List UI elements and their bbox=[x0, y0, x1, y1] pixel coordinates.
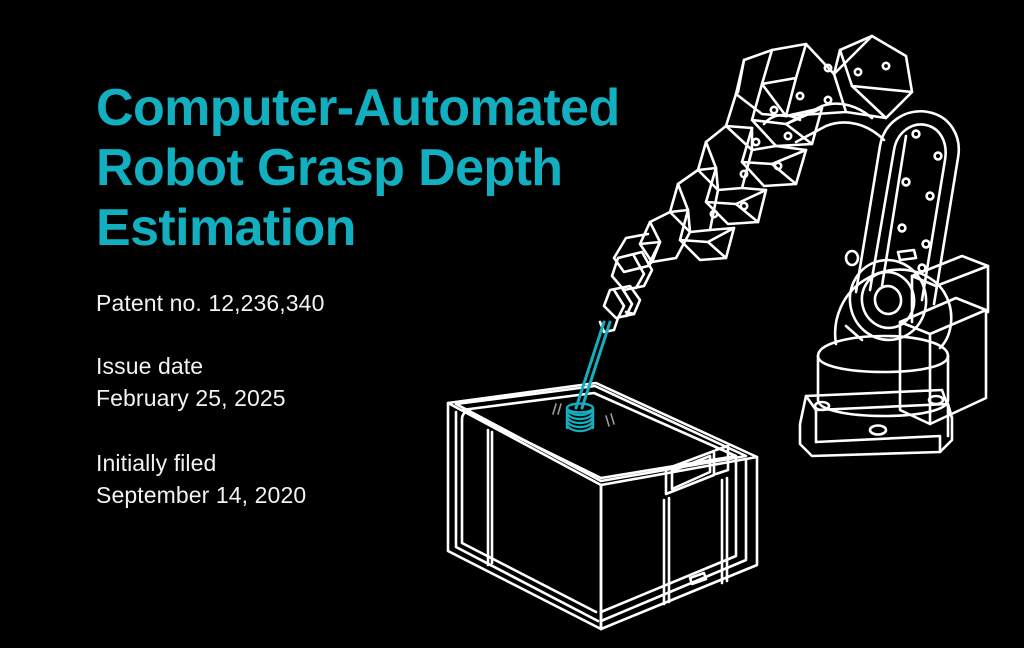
page-title: Computer-Automated Robot Grasp Depth Est… bbox=[96, 78, 696, 258]
filed-value: September 14, 2020 bbox=[96, 479, 696, 511]
robot-shoulder-joint bbox=[835, 251, 951, 348]
issue-date-group: Issue date February 25, 2025 bbox=[96, 350, 696, 414]
robot-controller-box bbox=[900, 256, 988, 424]
issue-date-value: February 25, 2025 bbox=[96, 382, 696, 414]
title-line-2: Robot Grasp Depth bbox=[96, 138, 696, 198]
patent-number: Patent no. 12,236,340 bbox=[96, 287, 696, 319]
patent-number-group: Patent no. 12,236,340 bbox=[96, 287, 696, 319]
robot-upper-arm bbox=[856, 111, 959, 304]
robot-elbow-joint bbox=[764, 104, 884, 142]
issue-date-label: Issue date bbox=[96, 350, 696, 382]
robot-pedestal bbox=[818, 336, 948, 416]
title-line-1: Computer-Automated bbox=[96, 78, 696, 138]
patent-announcement-card: Computer-Automated Robot Grasp Depth Est… bbox=[0, 0, 1024, 648]
title-line-3: Estimation bbox=[96, 198, 696, 258]
filed-date-group: Initially filed September 14, 2020 bbox=[96, 447, 696, 511]
filed-label: Initially filed bbox=[96, 447, 696, 479]
robot-base-plate bbox=[800, 390, 952, 456]
robot-forearm bbox=[670, 36, 912, 260]
text-content-block: Computer-Automated Robot Grasp Depth Est… bbox=[96, 78, 696, 511]
